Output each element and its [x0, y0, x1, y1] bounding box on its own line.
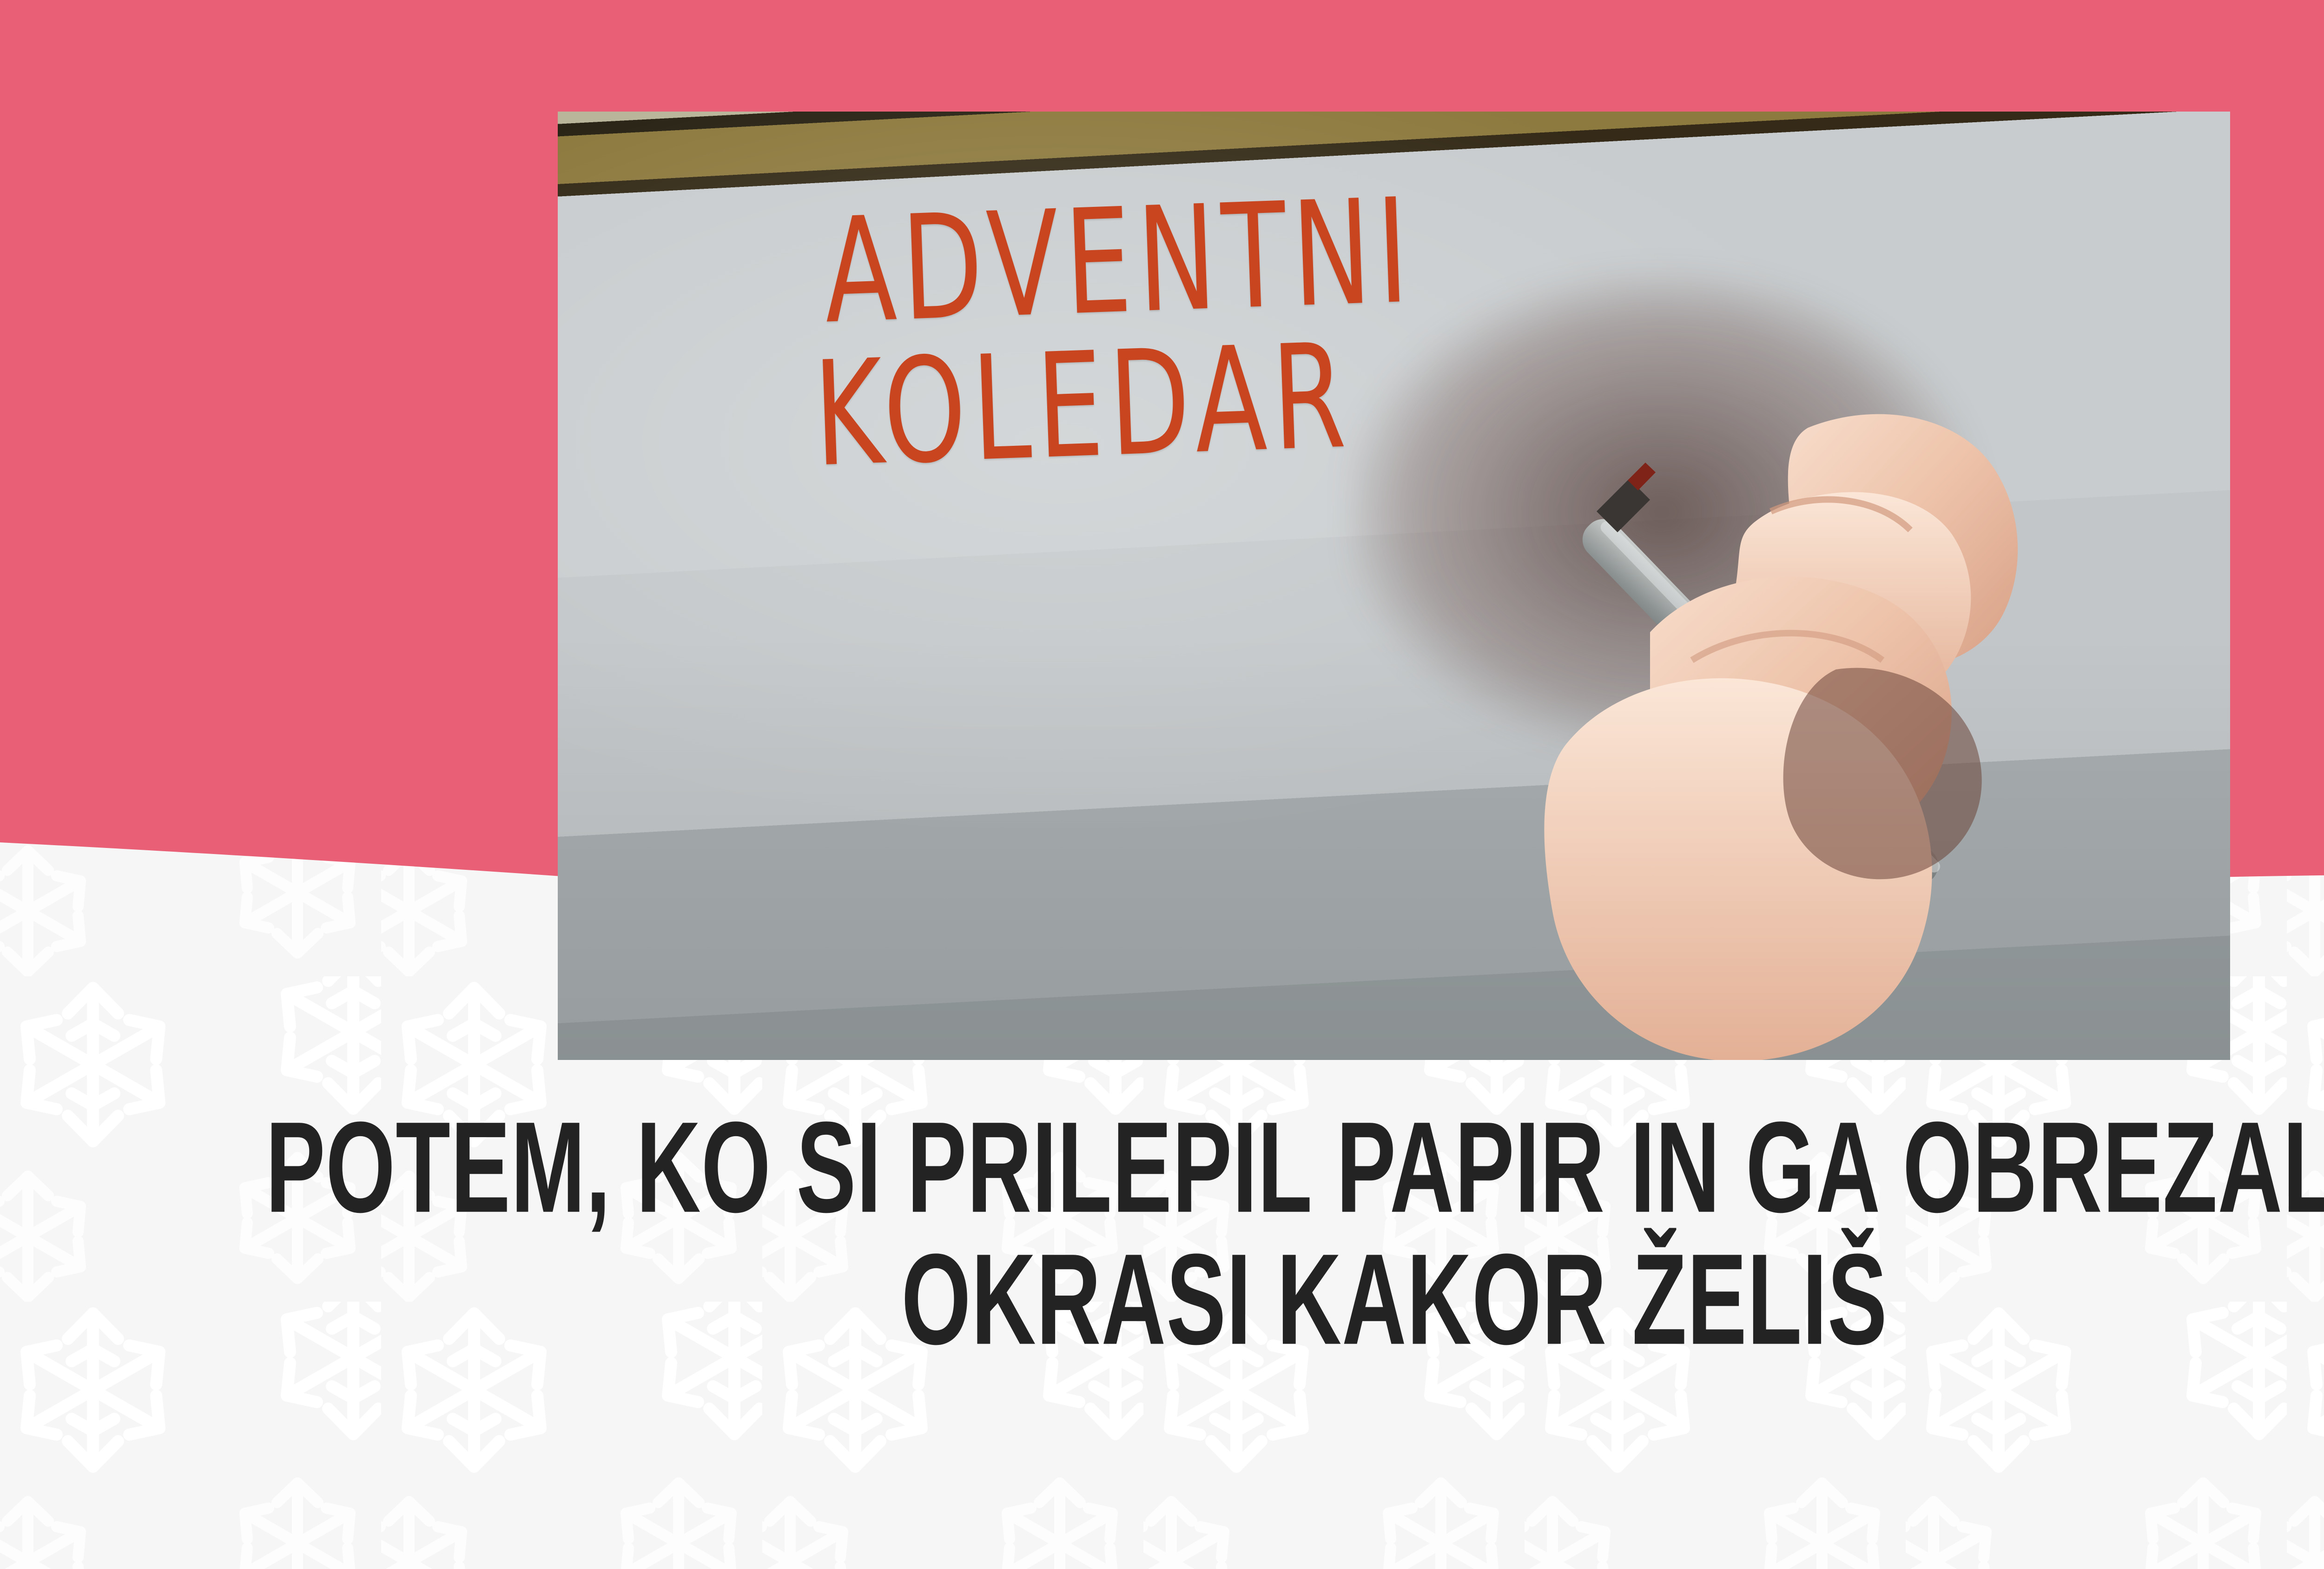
handwriting-line-2: KOLEDAR [812, 313, 1354, 499]
tutorial-photo: ADVENTNI KOLEDAR [558, 112, 2230, 1060]
caption-line-1: POTEM, KO SI PRILEPIL PAPIR IN GA OBREZA… [139, 1102, 2324, 1234]
hand-with-marker-icon [1511, 372, 2230, 1060]
caption-text: POTEM, KO SI PRILEPIL PAPIR IN GA OBREZA… [0, 1102, 2324, 1366]
slide-canvas: ADVENTNI KOLEDAR [0, 0, 2324, 1569]
caption-line-2: OKRASI KAKOR ŽELIŠ [139, 1234, 2324, 1366]
